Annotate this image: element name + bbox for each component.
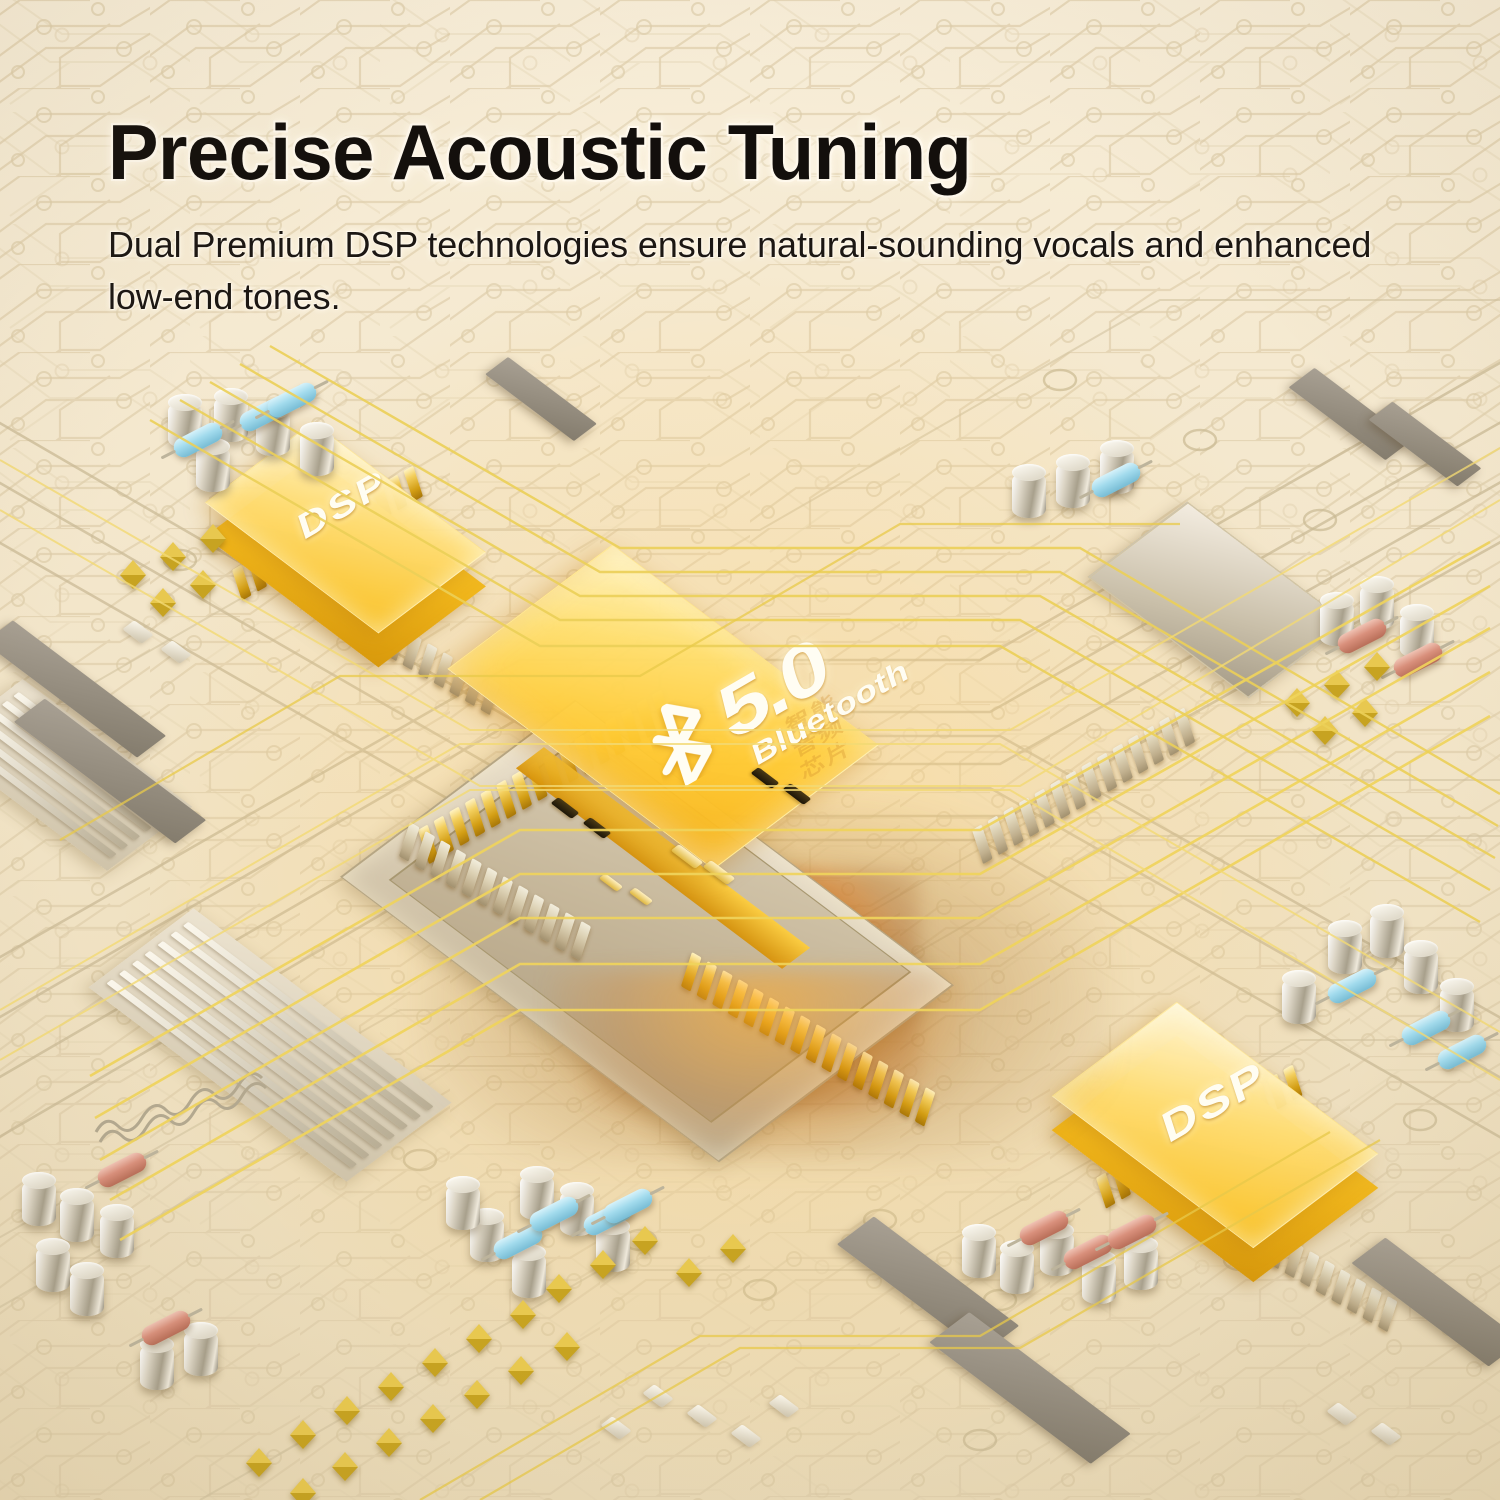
- page-title: Precise Acoustic Tuning: [108, 112, 1388, 193]
- ic-block-top-center: [485, 357, 597, 441]
- page-subtitle: Dual Premium DSP technologies ensure nat…: [108, 219, 1389, 323]
- ic-block-bottom-2: [929, 1312, 1130, 1464]
- coil-spring: [92, 1022, 272, 1162]
- chip-bounce-light: [550, 970, 970, 1150]
- header-block: Precise Acoustic Tuning Dual Premium DSP…: [108, 112, 1428, 323]
- product-feature-image: DSP DSP: [0, 0, 1500, 1500]
- main-bluetooth-chip-assembly: 智能音频芯片 5.0 Bluetooth: [300, 500, 1200, 1180]
